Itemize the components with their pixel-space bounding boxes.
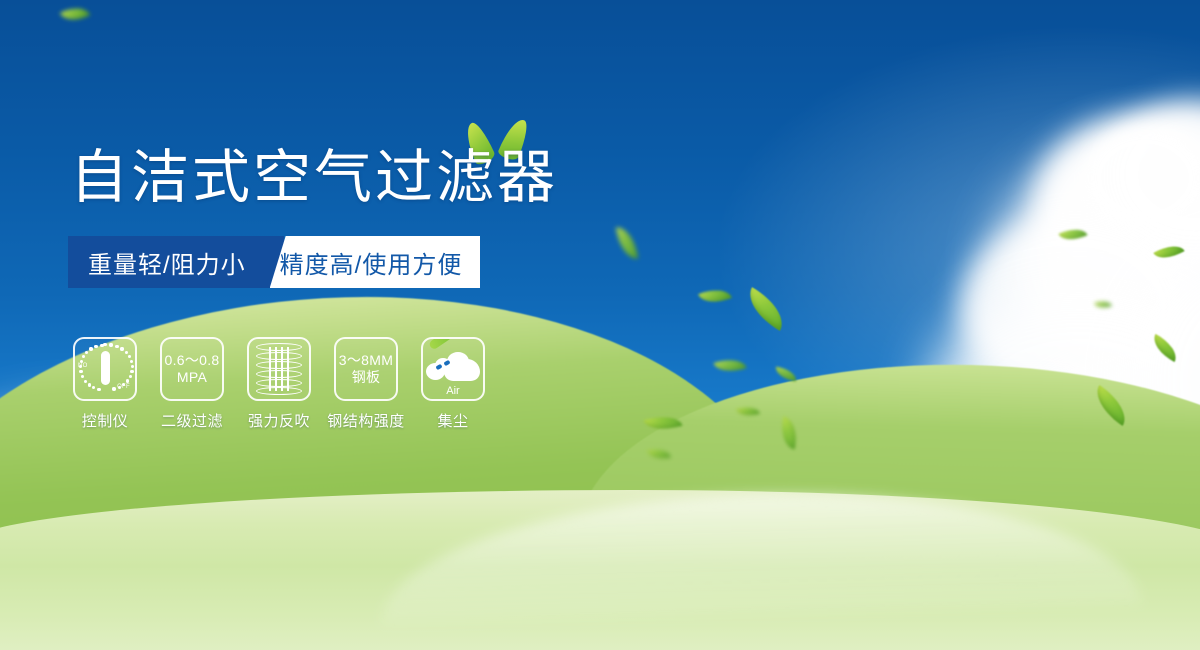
air-cloud-icon: Air (424, 343, 482, 395)
feature-list: NO OFF 控制仪 0.6～0.8 MPA 二级过滤 (68, 337, 490, 431)
feature-label: 二级过滤 (161, 410, 223, 431)
dial-pointer (101, 351, 110, 385)
dial-on-label: NO (78, 363, 88, 369)
pressure-value: 0.6～0.8 (164, 352, 219, 369)
feature-icon-box: 3～8MM 钢板 (334, 337, 398, 401)
tagline-badge: 重量轻/阻力小 精度高/使用方便 (68, 236, 480, 288)
steel-material: 钢板 (339, 369, 393, 386)
control-dial-icon: NO OFF (75, 339, 135, 399)
banner-content: 自洁式空气过滤器 重量轻/阻力小 精度高/使用方便 (0, 0, 1200, 650)
tagline-badge-secondary: 精度高/使用方便 (270, 236, 481, 288)
filter-coil-icon (256, 343, 302, 395)
steel-thickness: 3～8MM (339, 352, 393, 369)
feature-item-control[interactable]: NO OFF 控制仪 (68, 337, 142, 431)
feature-label: 集尘 (437, 410, 468, 431)
product-hero-banner: 自洁式空气过滤器 重量轻/阻力小 精度高/使用方便 (0, 0, 1200, 650)
feature-item-pressure[interactable]: 0.6～0.8 MPA 二级过滤 (155, 337, 229, 431)
dial-off-label: OFF (117, 384, 130, 390)
feature-icon-box: 0.6～0.8 MPA (160, 337, 224, 401)
feature-label: 强力反吹 (248, 410, 310, 431)
leaf-swoosh-icon (428, 337, 461, 350)
tagline-badge-primary: 重量轻/阻力小 (68, 236, 284, 288)
feature-item-backblow[interactable]: 强力反吹 (242, 337, 316, 431)
feature-icon-box: NO OFF (73, 337, 137, 401)
page-title: 自洁式空气过滤器 (70, 142, 558, 214)
feature-label: 控制仪 (82, 410, 129, 431)
feature-label: 钢结构强度 (327, 410, 405, 431)
steel-plate-text-icon: 3～8MM 钢板 (339, 352, 393, 386)
feature-item-dust[interactable]: Air 集尘 (416, 337, 490, 431)
feature-icon-box (247, 337, 311, 401)
pressure-unit: MPA (164, 369, 219, 386)
feature-icon-box: Air (421, 337, 485, 401)
pressure-text-icon: 0.6～0.8 MPA (164, 352, 219, 386)
feature-item-steel[interactable]: 3～8MM 钢板 钢结构强度 (329, 337, 403, 431)
air-label: Air (424, 385, 482, 397)
